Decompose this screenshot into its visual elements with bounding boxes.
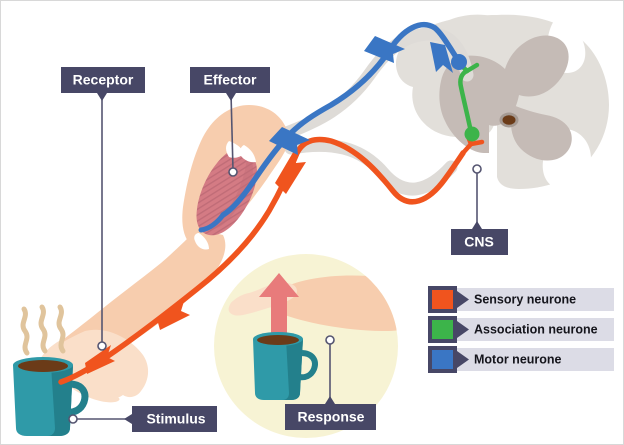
legend-swatch-sensory xyxy=(432,290,453,309)
association-cell-body xyxy=(465,127,480,142)
central-canal-lumen xyxy=(503,115,516,125)
spinal-cord-cross-section xyxy=(396,15,609,193)
callout-stimulus-label: Stimulus xyxy=(146,411,205,427)
cord-ventral-fissure xyxy=(484,153,491,193)
legend-row-motor[interactable]: Motor neurone xyxy=(428,346,614,373)
stimulus-marker xyxy=(69,415,77,423)
inset-coffee-surface xyxy=(257,335,299,345)
legend-row-association[interactable]: Association neurone xyxy=(428,316,614,343)
callout-receptor[interactable]: Receptor xyxy=(61,67,145,101)
effector-marker xyxy=(229,168,237,176)
steam-wisp-2 xyxy=(41,307,45,351)
callout-stimulus[interactable]: Stimulus xyxy=(124,406,217,432)
legend-swatch-association xyxy=(432,320,453,339)
legend-label-motor: Motor neurone xyxy=(474,352,562,366)
callout-effector[interactable]: Effector xyxy=(190,67,270,101)
steam-wisp-1 xyxy=(23,309,27,353)
legend-swatch-motor xyxy=(432,350,453,369)
diagram-canvas: Receptor Effector CNS Stimulus Response … xyxy=(1,1,624,445)
legend-label-association: Association neurone xyxy=(474,322,598,336)
coffee-surface xyxy=(18,360,68,372)
cns-marker xyxy=(473,165,481,173)
legend-row-sensory[interactable]: Sensory neurone xyxy=(428,286,614,313)
response-marker xyxy=(326,336,334,344)
steam-wisp-3 xyxy=(59,307,63,351)
callout-receptor-label: Receptor xyxy=(73,72,134,88)
legend: Sensory neurone Association neurone Moto… xyxy=(428,286,614,373)
callout-cns[interactable]: CNS xyxy=(451,221,508,255)
callout-cns-label: CNS xyxy=(464,234,494,250)
receptor-marker xyxy=(98,342,106,350)
callout-effector-label: Effector xyxy=(204,72,257,88)
legend-label-sensory: Sensory neurone xyxy=(474,292,576,306)
reflex-arc-diagram: Receptor Effector CNS Stimulus Response … xyxy=(0,0,624,445)
callout-response-label: Response xyxy=(298,409,365,425)
